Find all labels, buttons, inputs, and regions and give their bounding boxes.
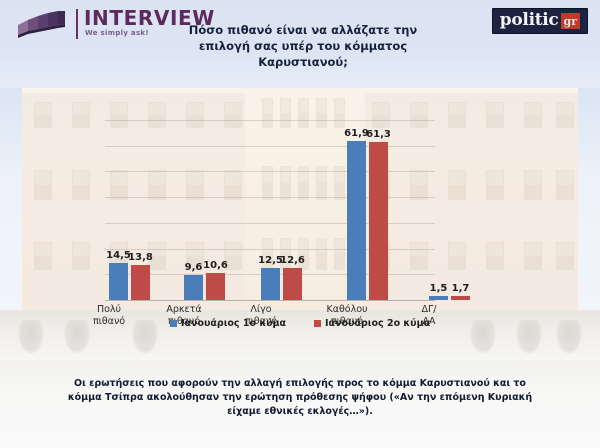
- footer-band: Οι ερωτήσεις που αφορούν την αλλαγή επιλ…: [0, 360, 600, 448]
- chart-bar: 10,6: [206, 273, 225, 300]
- chart-bar-value-label: 1,5: [430, 283, 448, 294]
- chart-bar-value-label: 1,7: [452, 283, 470, 294]
- chart-bar-value-label: 12,5: [258, 255, 283, 266]
- politic-wordmark: politic: [500, 12, 559, 29]
- chart-legend: Ιανουάριος 1ο κύμαΙανουάριος 2ο κύμα: [0, 318, 600, 329]
- legend-label: Ιανουάριος 2ο κύμα: [325, 318, 430, 329]
- interview-logo: INTERVIEW We simply ask!: [18, 9, 168, 41]
- legend-item[interactable]: Ιανουάριος 2ο κύμα: [314, 318, 430, 329]
- chart-bar-value-label: 13,8: [128, 252, 153, 263]
- bar-chart: 14,513,8Πολύ πιθανό9,610,6Αρκετά πιθανό1…: [0, 60, 600, 360]
- header-band: INTERVIEW We simply ask! politic gr Πόσο…: [0, 0, 600, 88]
- page-title: Πόσο πιθανό είναι να αλλάζατε την επιλογ…: [178, 22, 428, 70]
- legend-item[interactable]: Ιανουάριος 1ο κύμα: [170, 318, 286, 329]
- chart-bar: 12,6: [283, 268, 302, 300]
- poll-infographic: 14,513,8Πολύ πιθανό9,610,6Αρκετά πιθανό1…: [0, 0, 600, 448]
- logo-divider: [76, 9, 78, 39]
- chart-bar: 1,7: [451, 296, 470, 300]
- politic-gr-badge: gr: [561, 13, 581, 29]
- chart-bar: 14,5: [109, 263, 128, 300]
- chart-bar: 9,6: [184, 275, 203, 300]
- chart-bar: 12,5: [261, 268, 280, 300]
- chart-axis-line: [105, 300, 435, 301]
- legend-swatch: [314, 320, 321, 327]
- chart-bar: 1,5: [429, 296, 448, 300]
- chart-bar-value-label: 9,6: [185, 262, 203, 273]
- legend-swatch: [170, 320, 177, 327]
- logo-tagline: We simply ask!: [85, 29, 149, 37]
- bar-chart-3d-icon: [18, 11, 70, 39]
- chart-bar-value-label: 12,6: [280, 255, 305, 266]
- legend-label: Ιανουάριος 1ο κύμα: [181, 318, 286, 329]
- chart-bar: 13,8: [131, 265, 150, 300]
- chart-bar: 61,3: [369, 142, 388, 300]
- chart-bar-value-label: 14,5: [106, 250, 131, 261]
- chart-bar-value-label: 10,6: [203, 260, 228, 271]
- politic-gr-logo[interactable]: politic gr: [492, 8, 588, 34]
- chart-bar: 61,9: [347, 141, 366, 300]
- chart-bar-value-label: 61,3: [366, 129, 391, 140]
- methodology-note: Οι ερωτήσεις που αφορούν την αλλαγή επιλ…: [60, 377, 540, 419]
- chart-bar-value-label: 61,9: [344, 128, 369, 139]
